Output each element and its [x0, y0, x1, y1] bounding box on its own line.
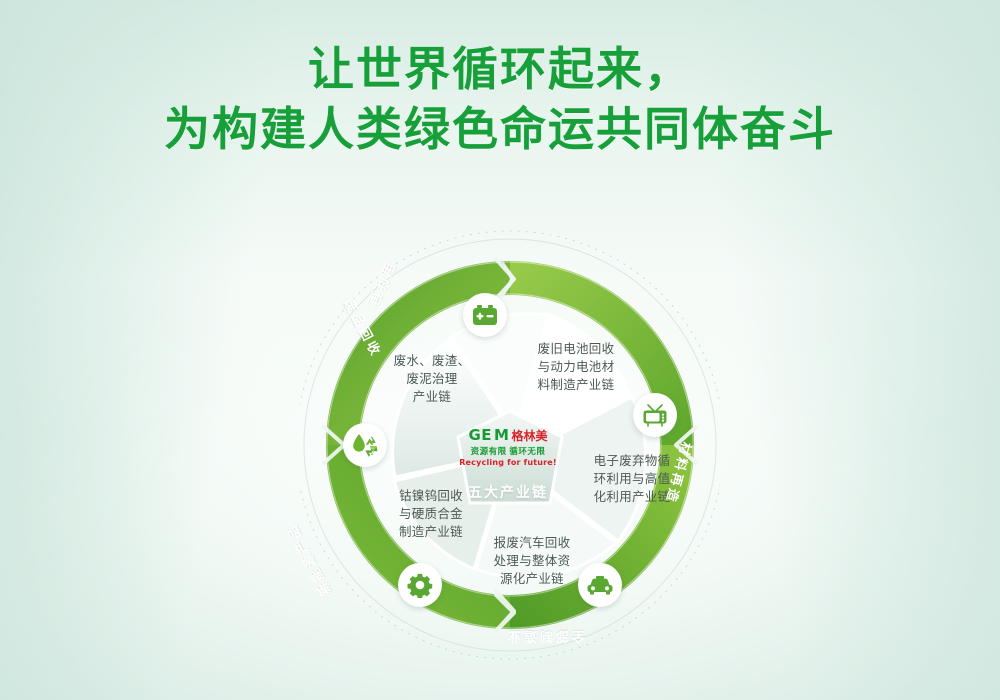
gear-icon-bubble: [398, 563, 442, 607]
headline-line-2: 为构建人类绿色命运共同体奋斗: [0, 100, 1000, 160]
tv-icon-bubble: [633, 393, 677, 437]
tv-icon: [642, 403, 668, 427]
water-recycle-icon: [351, 432, 379, 458]
car-icon-bubble: [578, 563, 622, 607]
battery-icon: [472, 304, 498, 326]
battery-icon-bubble: [463, 293, 507, 337]
water-recycle-icon-bubble: [343, 423, 387, 467]
page-headline: 让世界循环起来， 为构建人类绿色命运共同体奋斗: [0, 40, 1000, 160]
chain-petal-group: [393, 313, 646, 578]
headline-line-1: 让世界循环起来，: [0, 40, 1000, 100]
gear-icon: [407, 572, 433, 598]
car-icon: [586, 575, 614, 595]
